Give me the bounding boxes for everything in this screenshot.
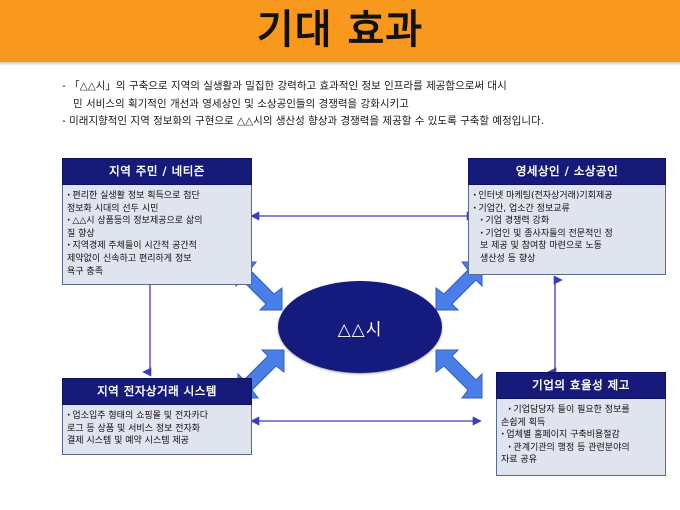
box-ecommerce-line: 업소입주 형태의 쇼핑몰 및 전자카다 (67, 410, 247, 423)
box-ecommerce-body: 업소입주 형태의 쇼핑몰 및 전자카다 로그 등 상품 및 서비스 정보 전자화… (62, 405, 252, 455)
box-residents[interactable]: 지역 주민 / 네티즌 편리한 실생활 정보 획득으로 첨단 정보화 시대의 선… (62, 158, 252, 285)
box-enterprise-line: 자료 공유 (501, 454, 661, 467)
box-ecommerce-title: 지역 전자상거래 시스템 (62, 378, 252, 405)
intro-line: - 미래지향적인 지역 정보화의 구현으로 △△시의 생산성 향상과 경쟁력을 … (62, 113, 662, 131)
box-merchants-line: 인터넷 마케팅(전자상거래)기회제공 (473, 190, 661, 203)
box-residents-line: 지역경제 주체들이 시간적 공간적 (67, 240, 247, 253)
box-enterprise[interactable]: 기업의 효율성 제고 기업담당자 들이 필요한 정보를 손쉽게 획득 업체별 홈… (496, 372, 666, 476)
box-merchants-line: 기업 경쟁력 강화 (473, 215, 661, 228)
box-ecommerce-line: 결제 시스템 및 예약 시스템 제공 (67, 435, 247, 448)
box-merchants-title: 영세상인 / 소상공인 (468, 158, 666, 185)
connector-top-horizontal (250, 207, 476, 225)
connector-left-vertical (141, 272, 159, 380)
box-residents-line: 욕구 충족 (67, 266, 247, 279)
intro-paragraph: - 「△△시」의 구축으로 지역의 실생활과 밀집한 강력하고 효과적인 정보 … (62, 78, 662, 131)
box-residents-line: 제약없이 신속하고 편리하게 정보 (67, 253, 247, 266)
box-enterprise-body: 기업담당자 들이 필요한 정보를 손쉽게 획득 업체별 홈페이지 구축비용절감 … (496, 399, 666, 476)
box-residents-line: 질 향상 (67, 228, 247, 241)
connector-bottom-horizontal (250, 412, 482, 430)
box-ecommerce[interactable]: 지역 전자상거래 시스템 업소입주 형태의 쇼핑몰 및 전자카다 로그 등 상품… (62, 378, 252, 455)
header-divider (0, 62, 680, 66)
connector-right-vertical (546, 272, 564, 380)
box-enterprise-line: 기업담당자 들이 필요한 정보를 (501, 404, 661, 417)
intro-line: 민 서비스의 획기적인 개선과 영세상인 및 소상공인들의 경쟁력을 강화시키고 (62, 96, 662, 114)
box-enterprise-line: 손쉽게 획득 (501, 417, 661, 430)
box-merchants[interactable]: 영세상인 / 소상공인 인터넷 마케팅(전자상거래)기회제공 기업간, 업소간 … (468, 158, 666, 275)
box-merchants-body: 인터넷 마케팅(전자상거래)기회제공 기업간, 업소간 정보교류 기업 경쟁력 … (468, 185, 666, 275)
center-node-ellipse: △△시 (278, 281, 442, 373)
box-residents-title: 지역 주민 / 네티즌 (62, 158, 252, 185)
center-node-label: △△시 (278, 281, 442, 373)
intro-line: - 「△△시」의 구축으로 지역의 실생활과 밀집한 강력하고 효과적인 정보 … (62, 78, 662, 96)
box-ecommerce-line: 로그 등 상품 및 서비스 정보 전자화 (67, 423, 247, 436)
box-merchants-line: 보 제공 및 참여창 마련으로 노동 (473, 240, 661, 253)
box-residents-line: 정보화 시대의 선두 시민 (67, 203, 247, 216)
page-title: 기대 효과 (0, 6, 680, 54)
box-enterprise-title: 기업의 효율성 제고 (496, 372, 666, 399)
box-enterprise-line: 관계기관의 행정 등 관련분야의 (501, 442, 661, 455)
box-enterprise-line: 업체별 홈페이지 구축비용절감 (501, 429, 661, 442)
box-residents-line: △△시 상품등의 정보제공으로 삶의 (67, 215, 247, 228)
box-residents-line: 편리한 실생활 정보 획득으로 첨단 (67, 190, 247, 203)
box-residents-body: 편리한 실생활 정보 획득으로 첨단 정보화 시대의 선두 시민 △△시 상품등… (62, 185, 252, 285)
box-merchants-line: 기업인 및 종사자들의 전문적인 정 (473, 228, 661, 241)
box-merchants-line: 생산성 등 향상 (473, 253, 661, 266)
box-merchants-line: 기업간, 업소간 정보교류 (473, 203, 661, 216)
